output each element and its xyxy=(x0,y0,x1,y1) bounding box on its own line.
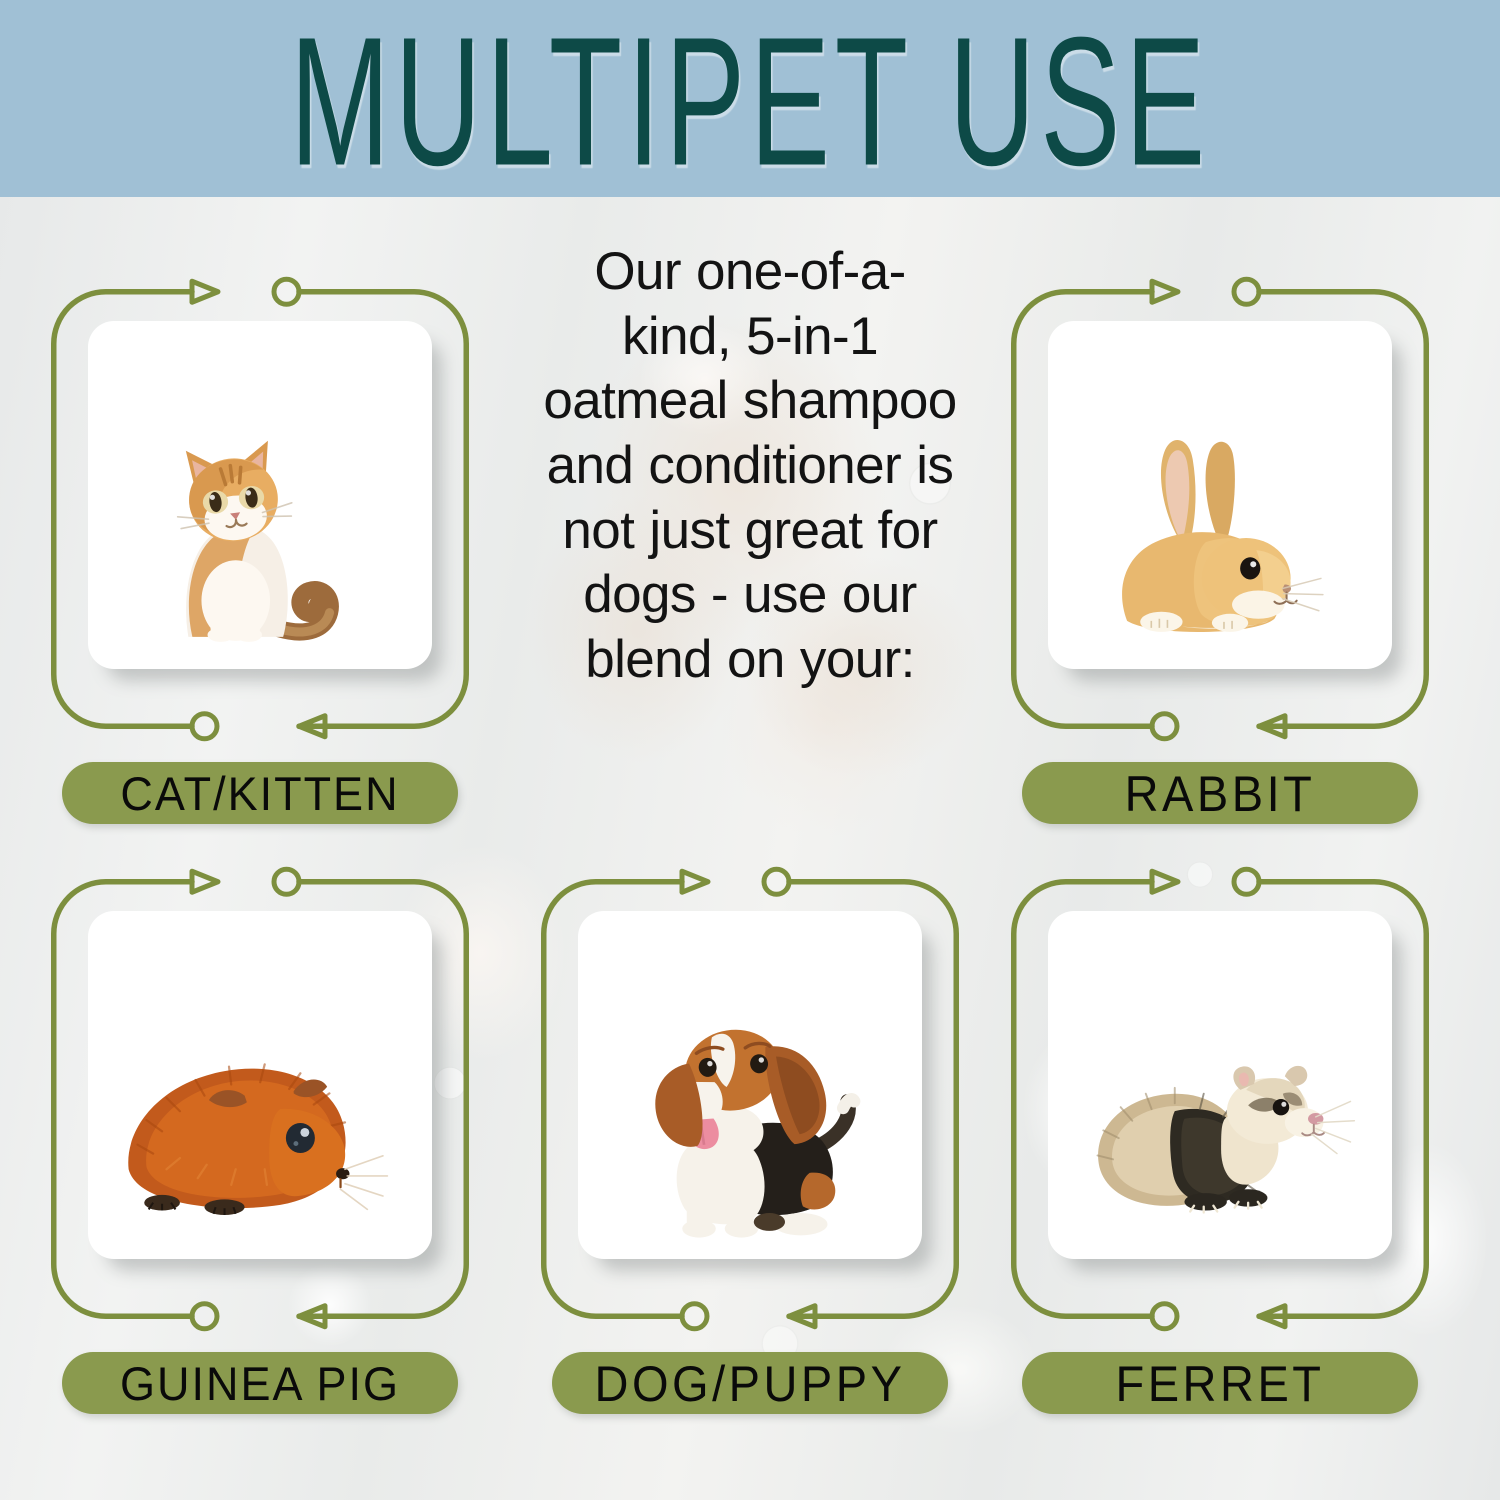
pet-label-text: GUINEA PIG xyxy=(120,1359,400,1407)
circle-outline-icon xyxy=(192,1304,217,1329)
pet-photo-card xyxy=(1048,911,1392,1259)
circle-outline-icon xyxy=(682,1304,707,1329)
pet-photo-card xyxy=(88,911,432,1259)
triangle-right-icon xyxy=(1152,281,1178,302)
pet-frame xyxy=(50,288,470,730)
circle-outline-icon xyxy=(1152,1304,1177,1329)
pet-illustration-ferret xyxy=(1084,1013,1364,1225)
circle-outline-icon xyxy=(1234,279,1259,304)
pet-card-ferret[interactable]: FERRET xyxy=(1010,878,1430,1320)
pet-illustration-dog xyxy=(633,983,879,1251)
pet-card-cat-kitten[interactable]: CAT/KITTEN xyxy=(50,288,470,730)
pet-illustration-guinea-pig xyxy=(113,1017,403,1225)
pet-frame xyxy=(1010,288,1430,730)
pet-label-text: FERRET xyxy=(1116,1358,1325,1408)
pet-label-guinea-pig[interactable]: GUINEA PIG xyxy=(62,1352,458,1414)
pet-photo-stage xyxy=(88,911,432,1259)
marketing-blurb: Our one-of-a-kind, 5-in-1 oatmeal shampo… xyxy=(540,240,960,693)
pet-illustration-cat xyxy=(148,427,380,653)
pet-photo-card xyxy=(578,911,922,1259)
page-title: MULTIPET USE xyxy=(290,9,1210,192)
circle-outline-icon xyxy=(274,279,299,304)
pet-label-dog-puppy[interactable]: DOG/PUPPY xyxy=(552,1352,948,1414)
pet-label-text: RABBIT xyxy=(1125,768,1316,818)
pet-photo-stage xyxy=(88,321,432,669)
circle-outline-icon xyxy=(1234,869,1259,894)
triangle-right-icon xyxy=(1152,871,1178,892)
pet-illustration-rabbit xyxy=(1101,427,1351,639)
pet-photo-stage xyxy=(1048,911,1392,1259)
pet-label-cat-kitten[interactable]: CAT/KITTEN xyxy=(62,762,458,824)
pet-frame xyxy=(50,878,470,1320)
pet-frame xyxy=(1010,878,1430,1320)
header-band: MULTIPET USE xyxy=(0,0,1500,197)
triangle-right-icon xyxy=(192,281,218,302)
multipet-use-infographic: MULTIPET USE Our one-of-a-kind, 5-in-1 o… xyxy=(0,0,1500,1500)
pet-card-rabbit[interactable]: RABBIT xyxy=(1010,288,1430,730)
pet-card-dog-puppy[interactable]: DOG/PUPPY xyxy=(540,878,960,1320)
circle-outline-icon xyxy=(764,869,789,894)
pet-photo-stage xyxy=(1048,321,1392,669)
circle-outline-icon xyxy=(274,869,299,894)
pet-photo-card xyxy=(1048,321,1392,669)
pet-label-text: CAT/KITTEN xyxy=(120,769,399,817)
pet-label-text: DOG/PUPPY xyxy=(595,1358,906,1408)
pet-frame xyxy=(540,878,960,1320)
circle-outline-icon xyxy=(1152,714,1177,739)
circle-outline-icon xyxy=(192,714,217,739)
triangle-right-icon xyxy=(682,871,708,892)
pet-label-rabbit[interactable]: RABBIT xyxy=(1022,762,1418,824)
pet-photo-stage xyxy=(578,911,922,1259)
pet-card-guinea-pig[interactable]: GUINEA PIG xyxy=(50,878,470,1320)
pet-photo-card xyxy=(88,321,432,669)
triangle-right-icon xyxy=(192,871,218,892)
pet-label-ferret[interactable]: FERRET xyxy=(1022,1352,1418,1414)
